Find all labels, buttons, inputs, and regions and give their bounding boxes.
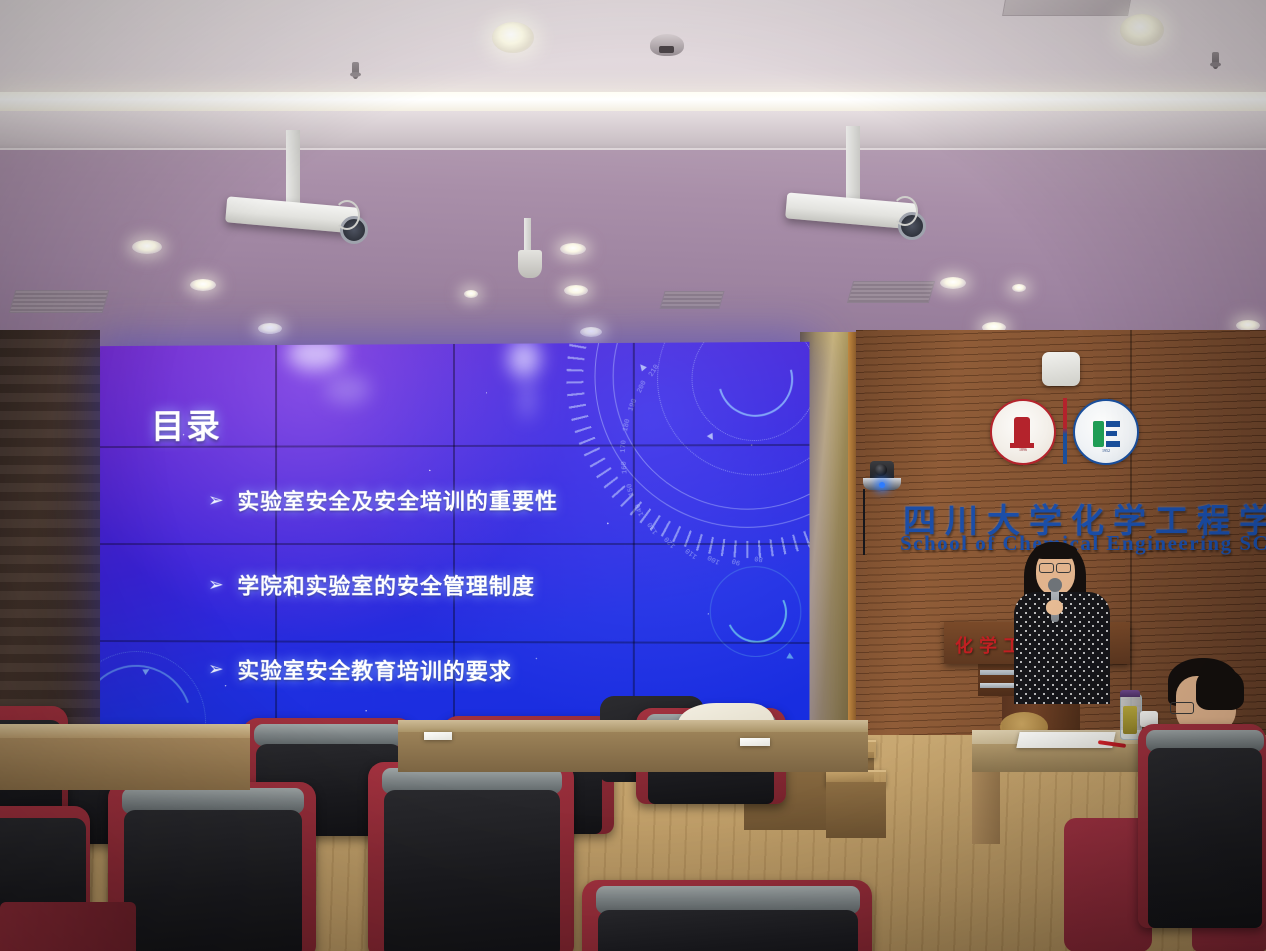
wall-speaker bbox=[1042, 352, 1080, 386]
presenter-hand bbox=[1046, 600, 1063, 615]
microphone-head-icon bbox=[1048, 578, 1062, 592]
left-wall-panel-texture bbox=[0, 330, 100, 730]
bullet-arrow-icon: ➢ bbox=[208, 489, 224, 512]
hanging-spotlight-icon bbox=[518, 250, 542, 278]
crest-left-year: 1896 bbox=[992, 447, 1054, 452]
video-wall-display[interactable]: ▲ ▲ 210 200 190 180 170 160 150 140 130 … bbox=[100, 342, 809, 754]
mid-table-top bbox=[398, 720, 868, 732]
tea-leaves bbox=[1123, 706, 1137, 734]
seat-cushion bbox=[384, 790, 560, 951]
recessed-spotlight bbox=[1012, 284, 1026, 292]
sprinkler-icon bbox=[1212, 52, 1219, 69]
seat-headrest bbox=[254, 724, 404, 746]
bottle-cap bbox=[1120, 690, 1140, 697]
chemical-engineering-crest: 1952 bbox=[1073, 399, 1139, 465]
recessed-spotlight bbox=[580, 327, 602, 337]
crest-right-year: 1952 bbox=[1075, 448, 1137, 453]
recessed-spotlight bbox=[190, 279, 216, 291]
recessed-spotlight bbox=[940, 277, 966, 289]
slide-bullet-item: ➢ 学院和实验室的安全管理制度 bbox=[208, 569, 728, 602]
front-table-body bbox=[0, 738, 250, 790]
recessed-spotlight bbox=[564, 285, 588, 296]
projector-mount-pole bbox=[846, 126, 860, 208]
attendee-desk-front bbox=[972, 744, 1158, 772]
slide-bullet-item: ➢ 实验室安全及安全培训的重要性 bbox=[208, 483, 728, 516]
slide-hud-tick-label: 80 bbox=[754, 554, 764, 563]
ceiling-downlight bbox=[492, 22, 534, 53]
slide-title: 目录 bbox=[151, 399, 222, 448]
air-vent-icon bbox=[9, 290, 110, 313]
wall-sign-english: School of Chemical Engineering SCU bbox=[900, 531, 1266, 556]
lamp-pole bbox=[524, 218, 531, 254]
slide-bullet-text: 实验室安全及安全培训的重要性 bbox=[237, 484, 558, 516]
air-vent-icon bbox=[847, 281, 935, 303]
slide-hud-tick-label: 160 bbox=[621, 461, 630, 474]
papers-on-table bbox=[424, 732, 452, 740]
mid-table-body bbox=[398, 732, 868, 772]
seat-cushion bbox=[124, 810, 302, 951]
attendee-desk-panel bbox=[972, 772, 1000, 844]
attendee-glasses-icon bbox=[1170, 702, 1194, 714]
slide-bullet-text: 实验室安全教育培训的要求 bbox=[237, 653, 512, 686]
bullet-arrow-icon: ➢ bbox=[208, 658, 224, 681]
projector-cable bbox=[334, 200, 360, 230]
seat-cushion bbox=[598, 910, 858, 951]
seat-armrest[interactable] bbox=[0, 902, 136, 951]
projector-cable bbox=[892, 196, 918, 226]
recessed-spotlight bbox=[258, 323, 282, 334]
presenter-glasses-icon bbox=[1039, 563, 1054, 573]
presenter-hair-front bbox=[1034, 544, 1077, 559]
crest-separator bbox=[1063, 398, 1067, 464]
papers-on-table bbox=[740, 738, 770, 746]
camera-lens-icon bbox=[875, 464, 887, 476]
camera-cable bbox=[863, 489, 865, 555]
ceiling-vent-icon bbox=[1002, 0, 1132, 16]
lecture-hall-photo: 1896 1952 四川大学化学工程学院 School of Chemical … bbox=[0, 0, 1266, 951]
presenter-glasses-icon bbox=[1056, 563, 1071, 573]
ceiling-light-strip bbox=[0, 92, 1266, 111]
recessed-spotlight bbox=[132, 240, 162, 254]
air-vent-icon bbox=[659, 291, 724, 309]
slide-bullet-item: ➢ 实验室安全教育培训的要求 bbox=[208, 653, 728, 687]
recessed-spotlight bbox=[560, 243, 586, 255]
pillar-edge-trim bbox=[848, 332, 856, 752]
recessed-spotlight bbox=[464, 290, 478, 298]
smoke-detector-icon bbox=[650, 34, 684, 56]
sichuan-university-crest: 1896 bbox=[990, 399, 1056, 465]
seat-cushion bbox=[1148, 748, 1262, 928]
front-table-top bbox=[0, 724, 250, 738]
slide-bullet-text: 学院和实验室的安全管理制度 bbox=[237, 569, 535, 601]
stage-step-front bbox=[826, 782, 886, 838]
attendee-hair-side bbox=[1196, 668, 1244, 710]
ceiling-downlight bbox=[1120, 14, 1164, 46]
bullet-arrow-icon: ➢ bbox=[208, 573, 224, 596]
camera-status-led bbox=[879, 482, 885, 488]
sprinkler-icon bbox=[352, 62, 359, 79]
